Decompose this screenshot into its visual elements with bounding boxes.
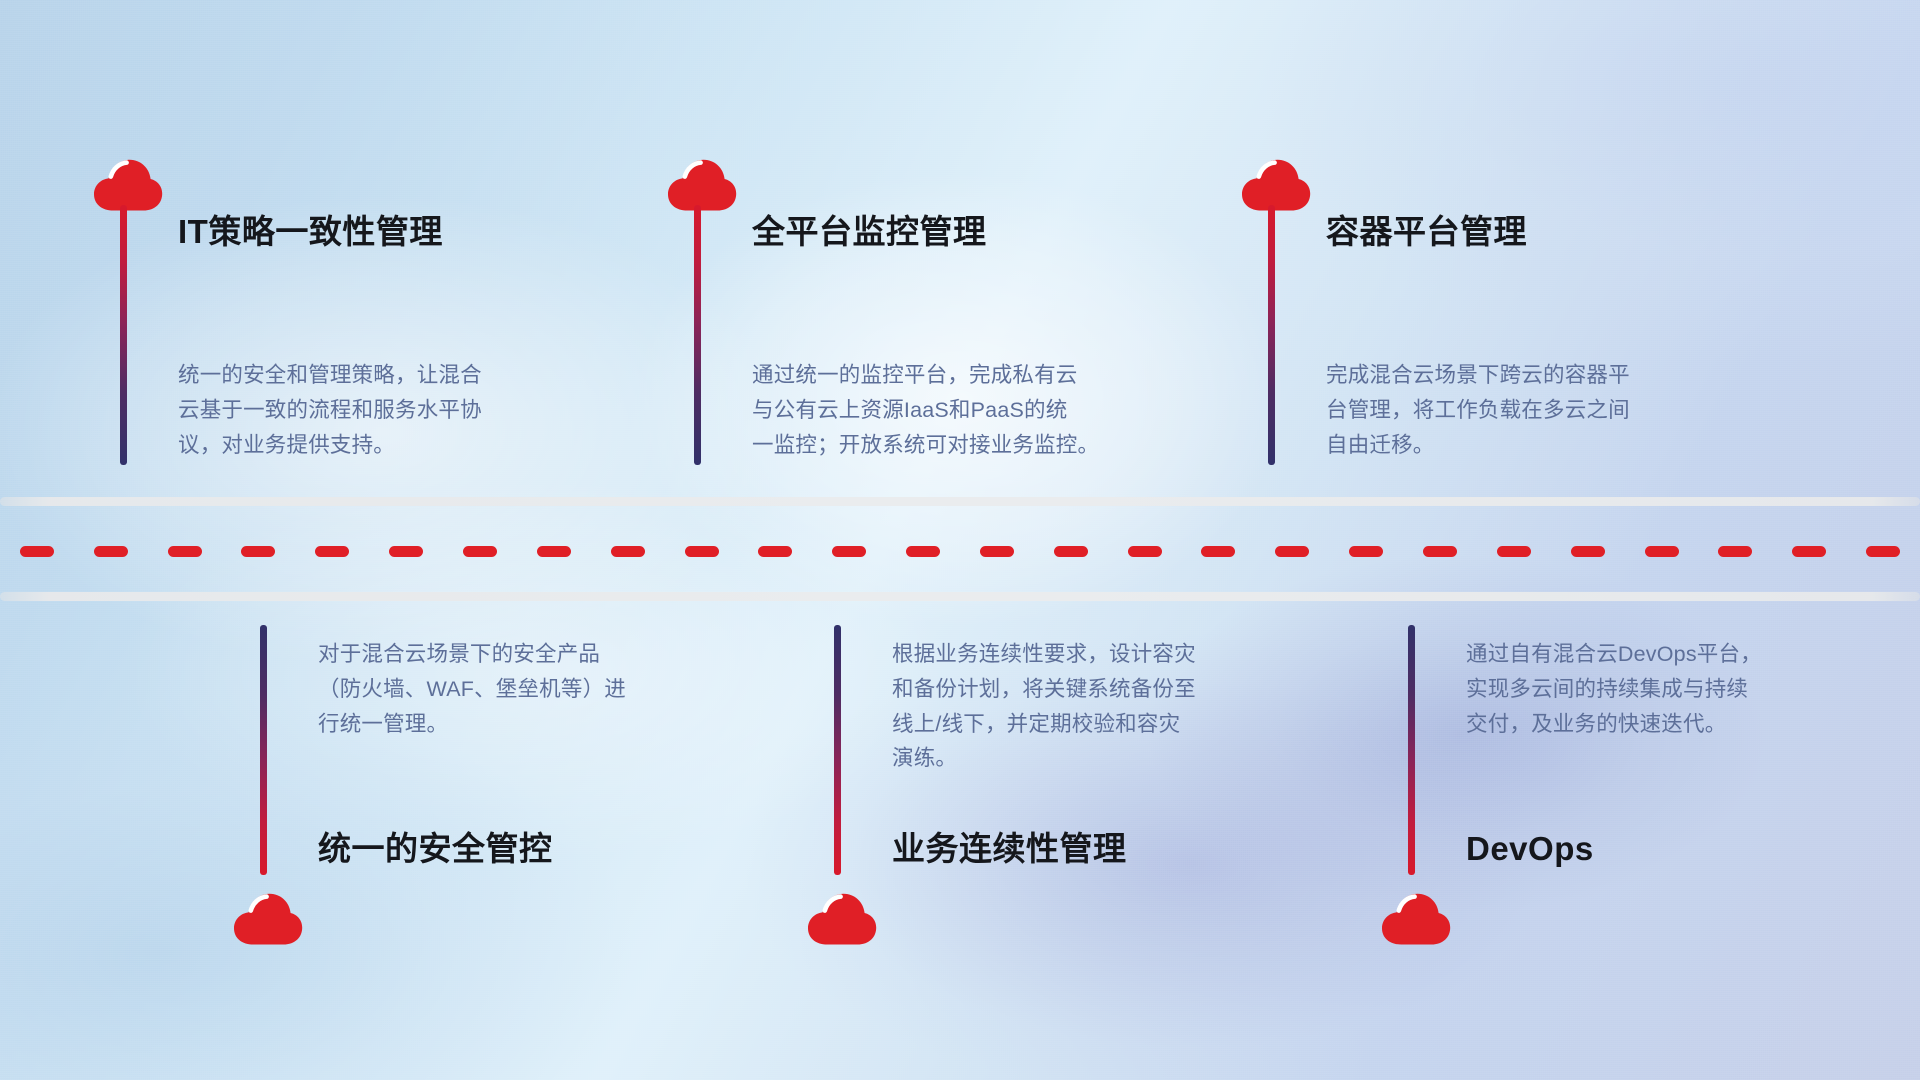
- card-description: 对于混合云场景下的安全产品 （防火墙、WAF、堡垒机等）进 行统一管理。: [318, 637, 718, 741]
- stem-line: [1408, 625, 1415, 875]
- road-edge-bottom: [0, 592, 1920, 601]
- desc-line: 完成混合云场景下跨云的容器平: [1326, 358, 1726, 393]
- desc-line: 议，对业务提供支持。: [178, 428, 578, 463]
- desc-line: 根据业务连续性要求，设计容灾: [892, 637, 1292, 672]
- desc-line: （防火墙、WAF、堡垒机等）进: [318, 672, 718, 707]
- desc-line: 线上/线下，并定期校验和容灾: [892, 707, 1292, 742]
- desc-line: 与公有云上资源IaaS和PaaS的统: [752, 393, 1152, 428]
- cloud-icon: [93, 159, 163, 211]
- road-dash: [906, 546, 940, 557]
- road-dash: [1718, 546, 1752, 557]
- desc-line: 实现多云间的持续集成与持续: [1466, 672, 1866, 707]
- card-title: 统一的安全管控: [318, 832, 553, 865]
- stem-line: [120, 205, 127, 465]
- desc-line: 和备份计划，将关键系统备份至: [892, 672, 1292, 707]
- cloud-icon: [1381, 893, 1451, 945]
- desc-line: 云基于一致的流程和服务水平协: [178, 393, 578, 428]
- card-title: IT策略一致性管理: [178, 215, 443, 248]
- card-description: 根据业务连续性要求，设计容灾 和备份计划，将关键系统备份至 线上/线下，并定期校…: [892, 637, 1292, 776]
- desc-line: 一监控；开放系统可对接业务监控。: [752, 428, 1152, 463]
- cloud-icon: [233, 893, 303, 945]
- desc-line: 交付，及业务的快速迭代。: [1466, 707, 1866, 742]
- road-dash: [832, 546, 866, 557]
- card-title: 业务连续性管理: [892, 832, 1127, 865]
- stem-line: [834, 625, 841, 875]
- stem-line: [260, 625, 267, 875]
- road-dash: [1645, 546, 1679, 557]
- desc-line: 台管理，将工作负载在多云之间: [1326, 393, 1726, 428]
- road-dash: [980, 546, 1014, 557]
- cloud-icon: [1241, 159, 1311, 211]
- road-dash: [1128, 546, 1162, 557]
- road-dash: [758, 546, 792, 557]
- card-description: 通过统一的监控平台，完成私有云 与公有云上资源IaaS和PaaS的统 一监控；开…: [752, 358, 1152, 462]
- road-dash: [463, 546, 497, 557]
- infographic-canvas: IT策略一致性管理 统一的安全和管理策略，让混合 云基于一致的流程和服务水平协 …: [0, 0, 1920, 1080]
- road-dash: [94, 546, 128, 557]
- road-dash: [168, 546, 202, 557]
- road-dash: [1497, 546, 1531, 557]
- desc-line: 通过自有混合云DevOps平台，: [1466, 637, 1866, 672]
- card-description: 通过自有混合云DevOps平台， 实现多云间的持续集成与持续 交付，及业务的快速…: [1466, 637, 1866, 741]
- road-dash: [611, 546, 645, 557]
- road-dash: [20, 546, 54, 557]
- desc-line: 演练。: [892, 741, 1292, 776]
- road-dash: [1054, 546, 1088, 557]
- road-dash: [315, 546, 349, 557]
- desc-line: 对于混合云场景下的安全产品: [318, 637, 718, 672]
- road-center-dashes: [0, 546, 1920, 557]
- road-dash: [389, 546, 423, 557]
- card-description: 统一的安全和管理策略，让混合 云基于一致的流程和服务水平协 议，对业务提供支持。: [178, 358, 578, 462]
- card-title: 容器平台管理: [1326, 215, 1527, 248]
- road-dash: [1275, 546, 1309, 557]
- stem-line: [694, 205, 701, 465]
- road-dash: [1423, 546, 1457, 557]
- card-title: 全平台监控管理: [752, 215, 987, 248]
- road-dash: [1349, 546, 1383, 557]
- road-dash: [1201, 546, 1235, 557]
- cloud-icon: [807, 893, 877, 945]
- cloud-icon: [667, 159, 737, 211]
- desc-line: 统一的安全和管理策略，让混合: [178, 358, 578, 393]
- road-dash: [241, 546, 275, 557]
- desc-line: 通过统一的监控平台，完成私有云: [752, 358, 1152, 393]
- road-dash: [1571, 546, 1605, 557]
- road-edge-top: [0, 497, 1920, 506]
- card-title: DevOps: [1466, 832, 1594, 865]
- road-dash: [1792, 546, 1826, 557]
- road-dash: [537, 546, 571, 557]
- desc-line: 自由迁移。: [1326, 428, 1726, 463]
- desc-line: 行统一管理。: [318, 707, 718, 742]
- road-dash: [1866, 546, 1900, 557]
- road-dash: [685, 546, 719, 557]
- card-description: 完成混合云场景下跨云的容器平 台管理，将工作负载在多云之间 自由迁移。: [1326, 358, 1726, 462]
- stem-line: [1268, 205, 1275, 465]
